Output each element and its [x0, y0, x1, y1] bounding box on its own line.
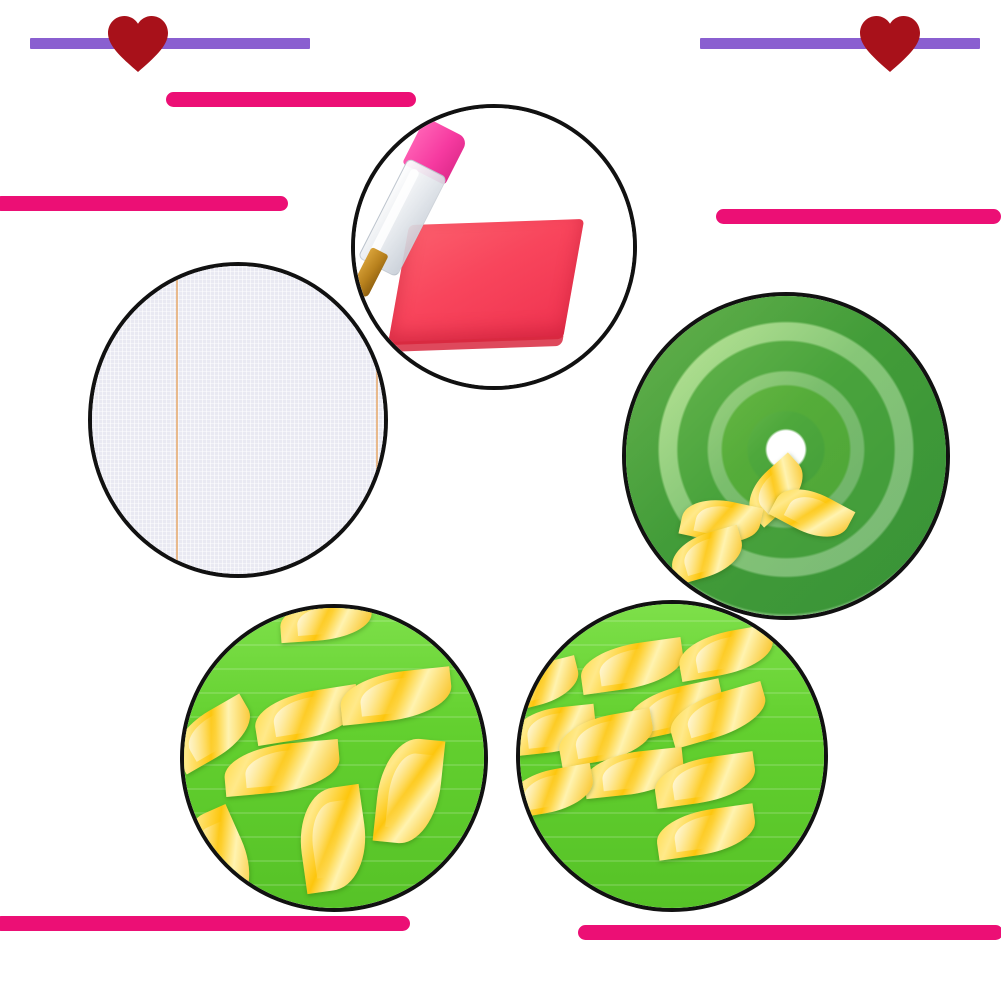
canvas-guide-line	[376, 264, 378, 576]
header-rule-left-inner	[150, 38, 310, 49]
infographic-root	[0, 0, 1001, 1001]
heart-icon	[858, 14, 922, 74]
step-4-photo	[516, 600, 828, 912]
step-1-label	[166, 92, 416, 107]
heart-icon	[106, 14, 170, 74]
step-3-label	[0, 916, 410, 931]
step-3-photo	[180, 604, 488, 912]
step-5-photo	[622, 292, 950, 620]
step-4-label	[578, 925, 1001, 940]
step-2-label	[0, 196, 288, 211]
canvas-guide-line	[176, 264, 178, 576]
step-1-photo	[351, 104, 637, 390]
step-5-label	[716, 209, 1001, 224]
header-rule-right-inner	[700, 38, 860, 49]
header	[0, 0, 1001, 78]
step-2-photo	[88, 262, 388, 578]
